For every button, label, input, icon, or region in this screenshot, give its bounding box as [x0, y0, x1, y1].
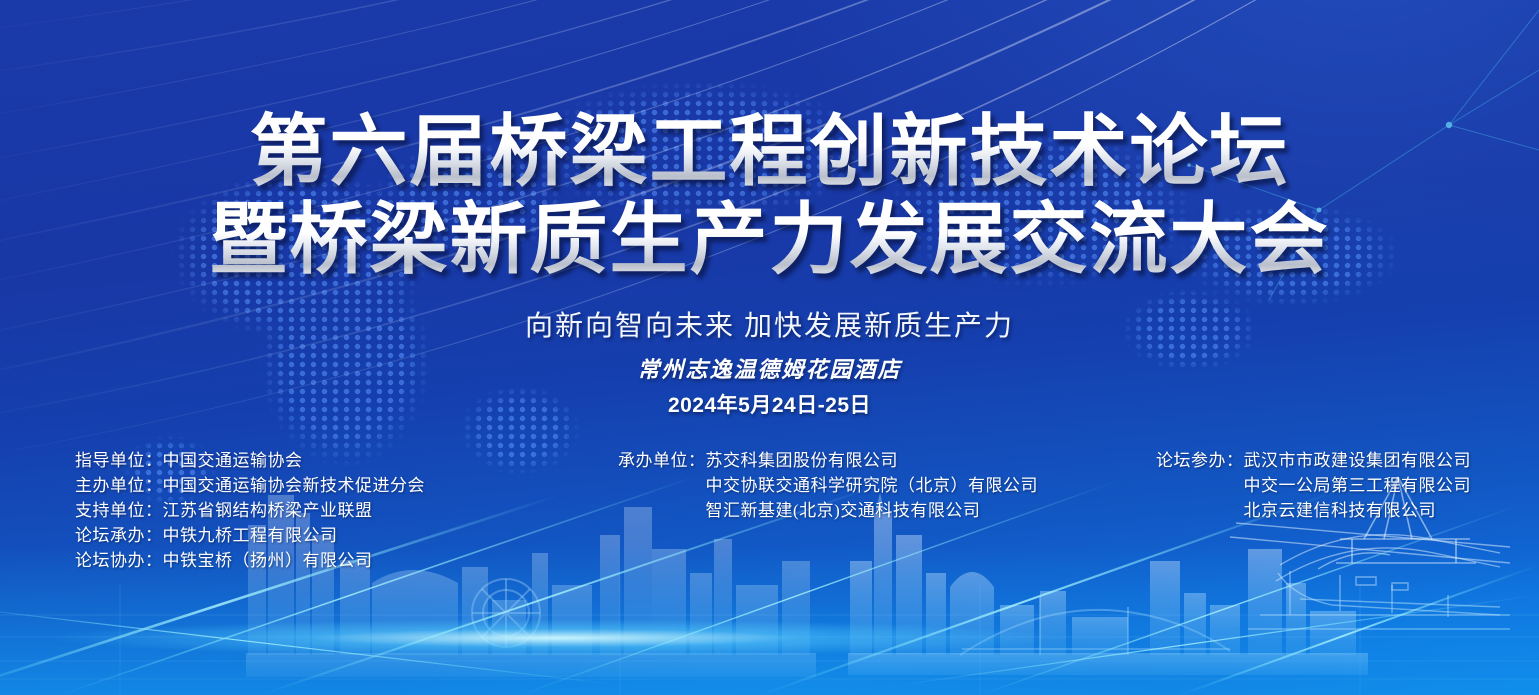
organizer-row: 论坛参办：北京云建信科技有限公司 [1156, 498, 1471, 523]
venue-date: 2024年5月24日-25日 [0, 389, 1539, 419]
organizer-row: 指导单位：中国交通运输协会 [75, 448, 425, 473]
organizer-value: 中交协联交通科学研究院（北京）有限公司 [706, 476, 1039, 495]
organizer-value: 中铁九桥工程有限公司 [163, 526, 338, 545]
organizer-value: 中交一公局第三工程有限公司 [1244, 476, 1472, 495]
organizer-column-right: 论坛参办：武汉市市政建设集团有限公司 论坛参办：中交一公局第三工程有限公司 论坛… [1156, 448, 1471, 523]
venue-name: 常州志逸温德姆花园酒店 [0, 352, 1539, 384]
organizer-row: 论坛承办：中铁九桥工程有限公司 [75, 523, 425, 548]
organizer-value: 中铁宝桥（扬州）有限公司 [163, 551, 373, 570]
organizer-row: 论坛协办：中铁宝桥（扬州）有限公司 [75, 548, 425, 573]
organizer-row: 论坛参办：武汉市市政建设集团有限公司 [1156, 448, 1471, 473]
organizer-label: 论坛参办： [1156, 448, 1244, 473]
organizer-row: 主办单位：中国交通运输协会新技术促进分会 [75, 473, 425, 498]
organizer-label: 主办单位： [75, 473, 163, 498]
organizer-value: 苏交科集团股份有限公司 [706, 451, 899, 470]
conference-banner: 第六届桥梁工程创新技术论坛 暨桥梁新质生产力发展交流大会 向新向智向未来 加快发… [0, 0, 1539, 695]
organizer-value: 中国交通运输协会 [163, 451, 303, 470]
title-line-2: 暨桥梁新质生产力发展交流大会 [0, 196, 1539, 284]
organizer-value: 江苏省钢结构桥梁产业联盟 [163, 501, 373, 520]
organizer-row: 承办单位：苏交科集团股份有限公司 [618, 448, 1038, 473]
organizer-label: 支持单位： [75, 498, 163, 523]
organizer-label: 指导单位： [75, 448, 163, 473]
venue-block: 常州志逸温德姆花园酒店 2024年5月24日-25日 [0, 352, 1539, 419]
organizer-row: 论坛参办：中交一公局第三工程有限公司 [1156, 473, 1471, 498]
organizer-value: 中国交通运输协会新技术促进分会 [163, 476, 426, 495]
organizer-label: 论坛协办： [75, 548, 163, 573]
organizer-row: 承办单位：中交协联交通科学研究院（北京）有限公司 [618, 473, 1038, 498]
organizer-row: 承办单位：智汇新基建(北京)交通科技有限公司 [618, 498, 1038, 523]
organizers-block: 指导单位：中国交通运输协会 主办单位：中国交通运输协会新技术促进分会 支持单位：… [0, 444, 1539, 574]
organizer-label: 承办单位： [618, 448, 706, 473]
organizer-label: 论坛承办： [75, 523, 163, 548]
title-line-1: 第六届桥梁工程创新技术论坛 [0, 108, 1539, 196]
organizer-value: 智汇新基建(北京)交通科技有限公司 [706, 501, 981, 520]
headline-block: 第六届桥梁工程创新技术论坛 暨桥梁新质生产力发展交流大会 向新向智向未来 加快发… [0, 108, 1539, 344]
subtitle: 向新向智向未来 加快发展新质生产力 [0, 304, 1539, 344]
organizer-column-left: 指导单位：中国交通运输协会 主办单位：中国交通运输协会新技术促进分会 支持单位：… [75, 448, 425, 573]
organizer-value: 北京云建信科技有限公司 [1244, 501, 1437, 520]
organizer-value: 武汉市市政建设集团有限公司 [1244, 451, 1472, 470]
organizer-row: 支持单位：江苏省钢结构桥梁产业联盟 [75, 498, 425, 523]
organizer-column-middle: 承办单位：苏交科集团股份有限公司 承办单位：中交协联交通科学研究院（北京）有限公… [618, 448, 1038, 523]
